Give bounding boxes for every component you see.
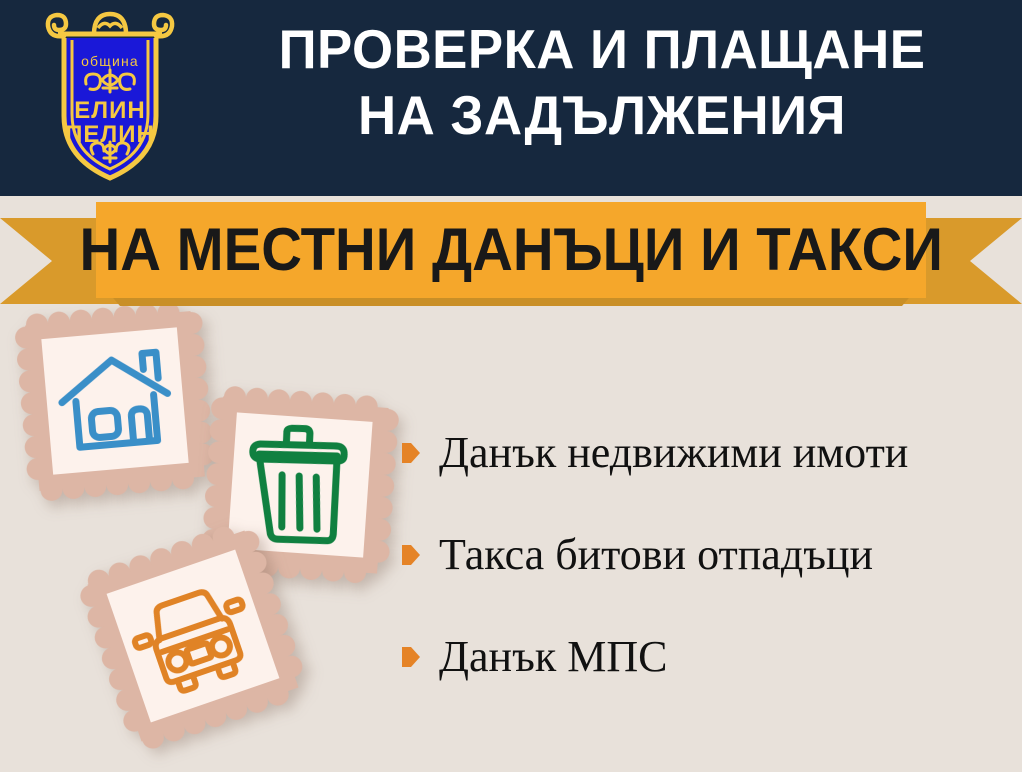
ribbon-body: НА МЕСТНИ ДАНЪЦИ И ТАКСИ [96, 202, 926, 298]
trash-bin-icon [252, 426, 349, 545]
list-item-label: Данък недвижими имоти [439, 428, 908, 478]
crest-name-line-1: ЕЛИН [74, 97, 145, 124]
arrow-bullet-icon [402, 443, 420, 463]
poster-canvas: община ЕЛИН ПЕЛИН [0, 0, 1022, 772]
stamp-card-property [12, 298, 218, 504]
arrow-bullet-icon [402, 647, 420, 667]
ribbon-subtitle: НА МЕСТНИ ДАНЪЦИ И ТАКСИ [79, 219, 942, 281]
header-title-group: ПРОВЕРКА И ПЛАЩАНЕ НА ЗАДЪЛЖЕНИЯ [192, 16, 1012, 148]
tax-type-list: Данък недвижими имоти Такса битови отпад… [402, 424, 1014, 686]
list-item[interactable]: Данък недвижими имоти [402, 424, 1014, 482]
page-title-line-2: НА ЗАДЪЛЖЕНИЯ [208, 82, 995, 148]
subtitle-ribbon: НА МЕСТНИ ДАНЪЦИ И ТАКСИ [0, 196, 1022, 308]
page-title-line-1: ПРОВЕРКА И ПЛАЩАНЕ [208, 16, 995, 82]
list-item-label: Такса битови отпадъци [439, 530, 873, 580]
list-item-label: Данък МПС [439, 632, 667, 682]
list-item[interactable]: Такса битови отпадъци [402, 526, 1014, 584]
crest-top-label: община [81, 53, 139, 69]
arrow-bullet-icon [402, 545, 420, 565]
header-banner: община ЕЛИН ПЕЛИН [0, 0, 1022, 196]
list-item[interactable]: Данък МПС [402, 628, 1014, 686]
municipality-crest-icon: община ЕЛИН ПЕЛИН [38, 8, 182, 186]
